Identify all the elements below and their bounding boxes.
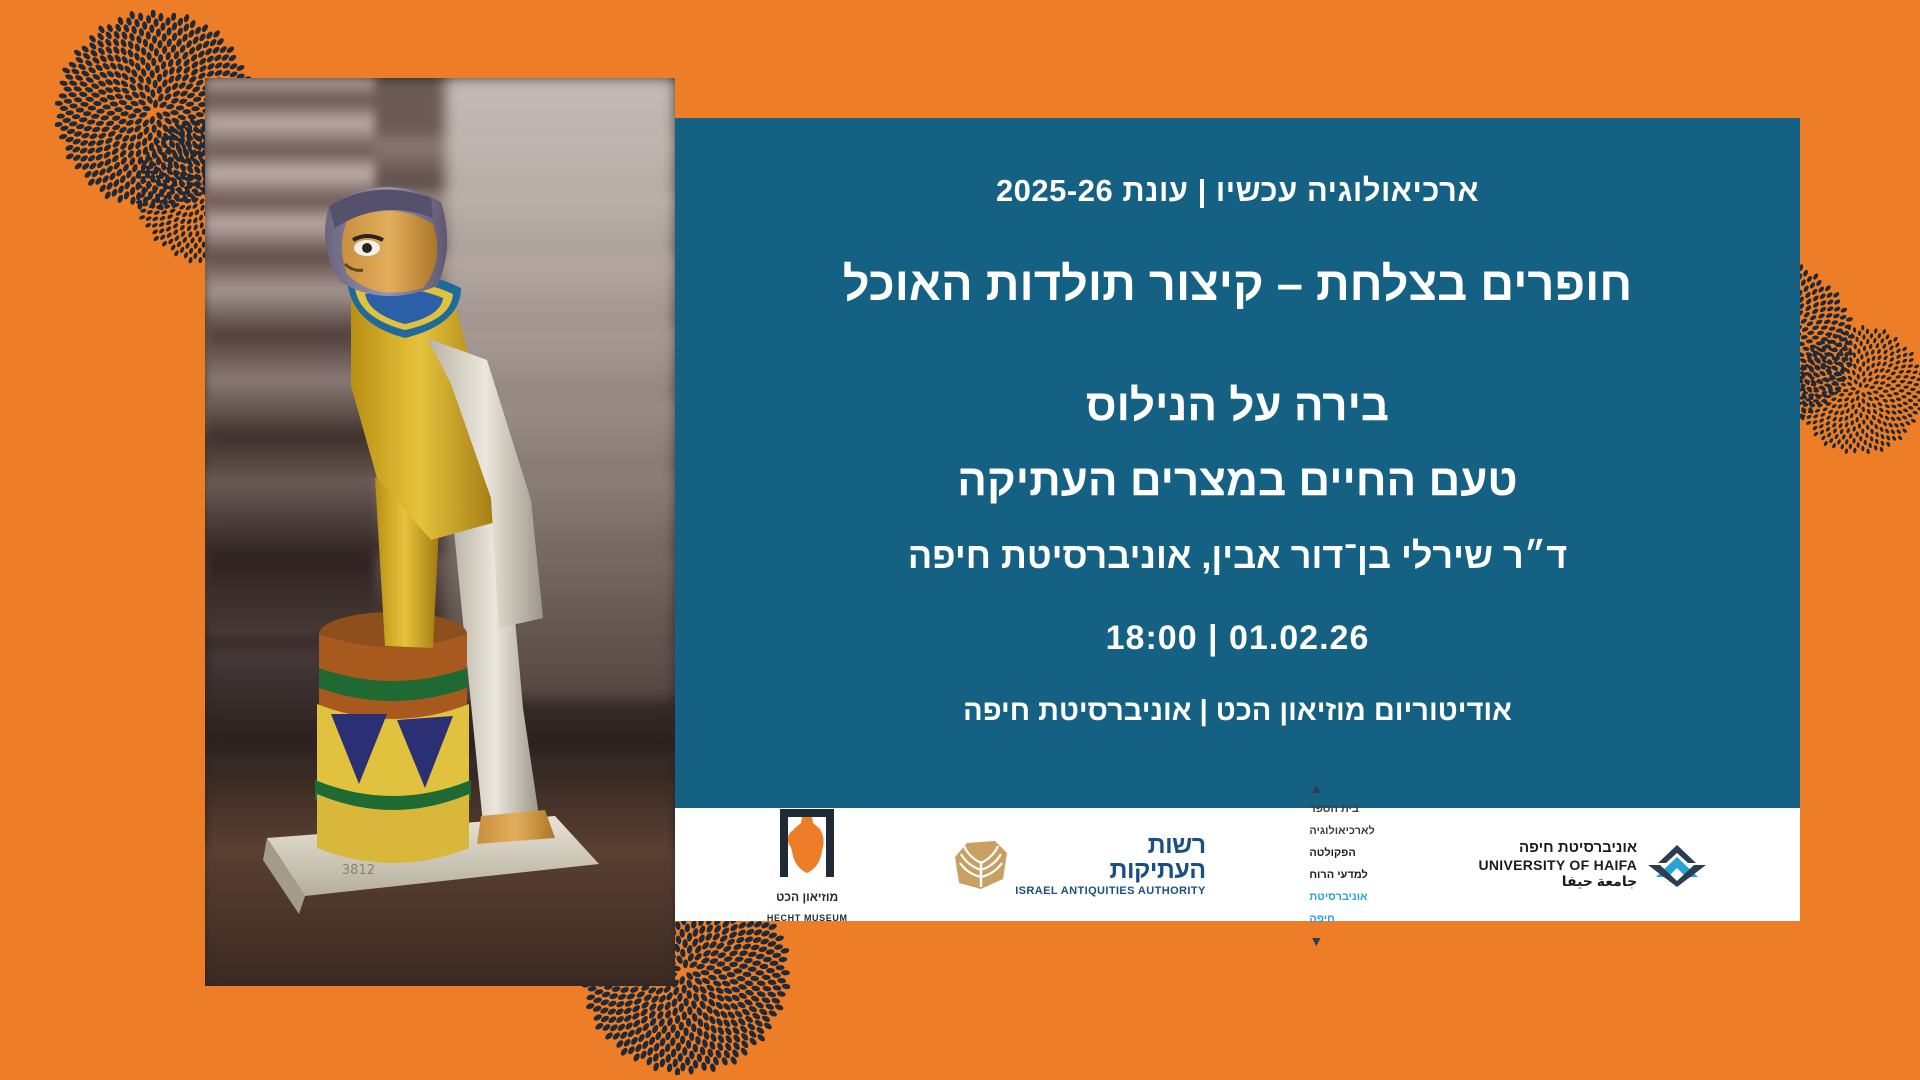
chevron-down-icon: ▼: [1309, 935, 1323, 948]
series-kicker: ארכיאולוגיה עכשיו | עונת 2025-26: [745, 172, 1730, 209]
svg-text:3812: 3812: [342, 863, 375, 878]
info-panel: ארכיאולוגיה עכשיו | עונת 2025-26 חופרים …: [675, 118, 1800, 808]
iaa-name-he-1: רשות: [1015, 833, 1205, 858]
school-line-1: בית הספר: [1309, 803, 1359, 816]
speaker-name: ד״ר שירלי בן־דור אבין, אוניברסיטת חיפה: [745, 534, 1730, 577]
school-line-5: אוניברסיטת: [1309, 891, 1367, 904]
logo-university-of-haifa: אוניברסיטת חיפה UNIVERSITY OF HAIFA جامع…: [1478, 839, 1708, 890]
uoh-name-ar: جامعة حيفا: [1478, 873, 1637, 890]
egyptian-figurine: 3812: [255, 148, 615, 938]
school-line-2: לארכיאולוגיה: [1309, 825, 1374, 838]
lecture-subtitle: טעם החיים במצרים העתיקה: [745, 455, 1730, 508]
university-of-haifa-icon: [1646, 843, 1708, 887]
hecht-name-he: מוזיאון הכט: [776, 890, 838, 904]
logo-israel-antiquities-authority: רשות העתיקות ISRAEL ANTIQUITIES AUTHORIT…: [951, 833, 1205, 897]
uoh-name-en: UNIVERSITY OF HAIFA: [1478, 857, 1637, 874]
iaa-name-en: ISRAEL ANTIQUITIES AUTHORITY: [1015, 886, 1205, 897]
school-line-6: חיפה: [1309, 913, 1334, 926]
logo-hecht-museum: מוזיאון הכט HECHT MUSEUM: [767, 807, 848, 923]
school-line-3: הפקולטה: [1309, 847, 1355, 860]
figurine-vessel: [315, 612, 471, 863]
figurine-svg: 3812: [255, 148, 615, 938]
poster-canvas: 3812: [0, 0, 1920, 1080]
event-datetime: 18:00 | 01.02.26: [745, 619, 1730, 658]
hecht-amphora-icon: [776, 807, 838, 879]
antiquities-sherd-icon: [951, 839, 1009, 891]
chevron-up-icon: ▲: [1309, 782, 1323, 795]
exhibit-photo: 3812: [205, 78, 675, 986]
hecht-name-en: HECHT MUSEUM: [767, 913, 848, 923]
iaa-name-he-2: העתיקות: [1015, 858, 1205, 883]
series-title: חופרים בצלחת – קיצור תולדות האוכל: [745, 255, 1730, 314]
sponsor-logo-bar: אוניברסיטת חיפה UNIVERSITY OF HAIFA جامع…: [675, 808, 1800, 921]
school-line-4: למדעי הרוח: [1309, 869, 1367, 882]
uoh-name-he: אוניברסיטת חיפה: [1478, 839, 1637, 857]
logo-school-of-archaeology: ▲ בית הספר לארכיאולוגיה הפקולטה למדעי הר…: [1309, 782, 1374, 948]
burst-right-icon: [1795, 325, 1920, 455]
event-venue: אודיטוריום מוזיאון הכט | אוניברסיטת חיפה: [745, 694, 1730, 729]
lecture-title: בירה על הנילוס: [745, 380, 1730, 433]
